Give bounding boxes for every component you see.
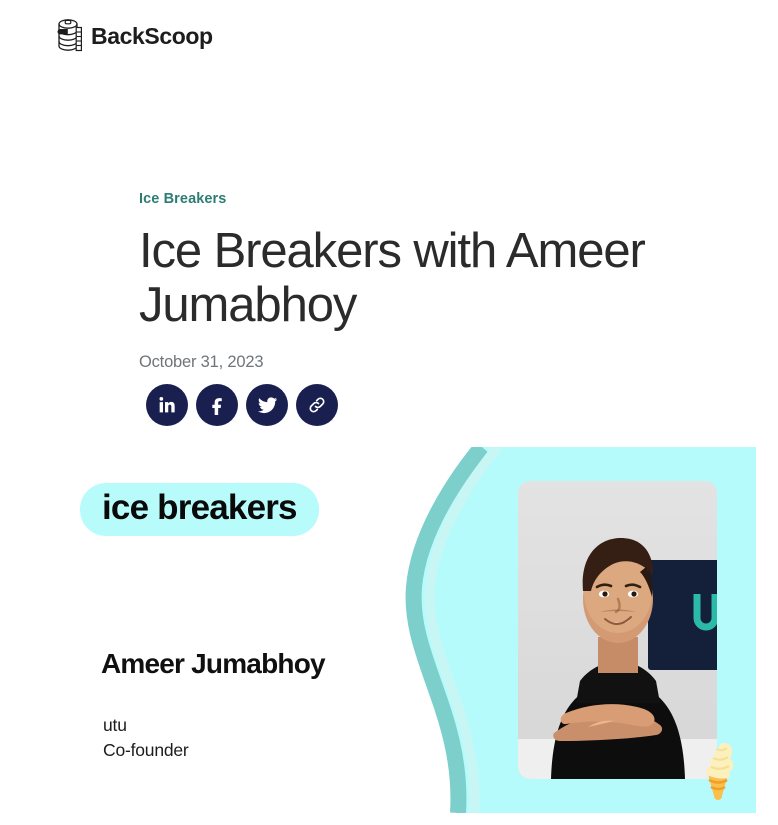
brand-name: BackScoop [91,25,213,48]
share-linkedin-button[interactable] [146,384,188,426]
linkedin-icon [157,395,177,415]
ice-breakers-badge: ice breakers [80,483,319,536]
guest-role: Co-founder [103,738,189,763]
guest-meta: utu Co-founder [103,713,189,764]
hero-card [332,447,756,813]
twitter-icon [257,395,278,416]
brand-logo-link[interactable]: BackScoop [56,17,213,55]
article-header: Ice Breakers Ice Breakers with Ameer Jum… [139,190,699,373]
publish-date: October 31, 2023 [139,353,699,373]
guest-name: Ameer Jumabhoy [101,648,325,680]
link-chain-icon [307,395,327,415]
site-header: BackScoop [0,0,778,72]
category-link[interactable]: Ice Breakers [139,191,226,208]
share-twitter-button[interactable] [246,384,288,426]
scoop-stack-icon [56,17,82,55]
share-copy-link-button[interactable] [296,384,338,426]
page-title: Ice Breakers with Ameer Jumabhoy [139,225,659,333]
guest-company: utu [103,713,189,738]
share-buttons [146,384,338,426]
ice-cream-cone-icon [690,734,744,800]
facebook-icon [207,395,227,415]
wall-screen [648,560,717,670]
share-facebook-button[interactable] [196,384,238,426]
guest-photo [518,481,717,779]
